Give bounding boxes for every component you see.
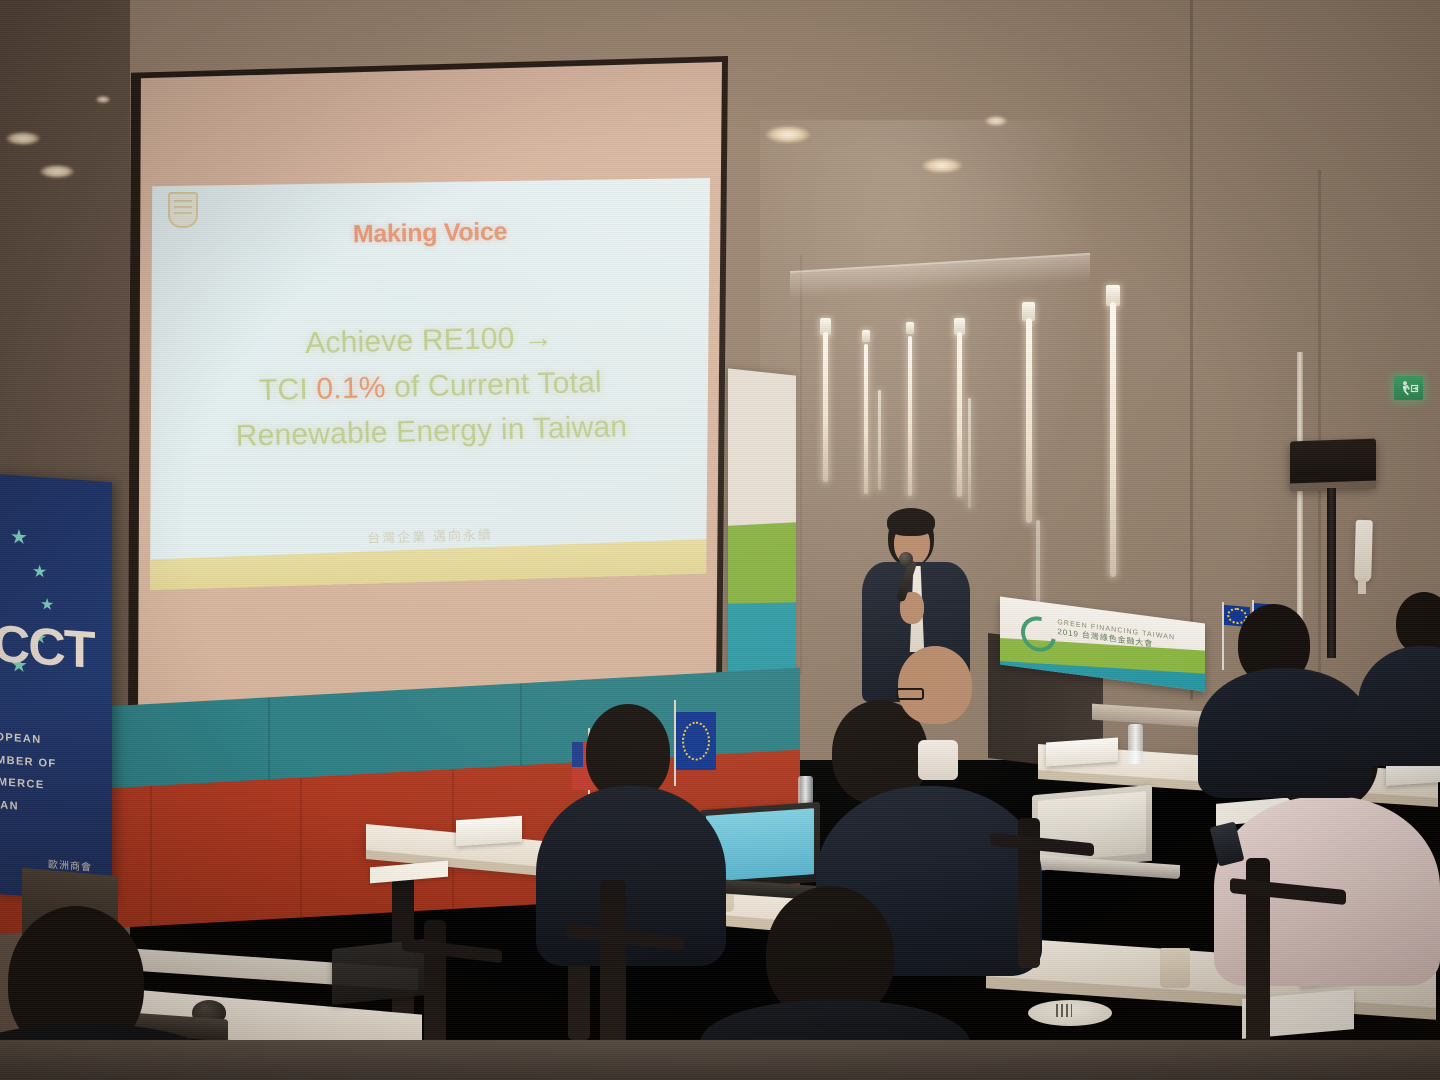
water-bottle	[1128, 724, 1143, 764]
floor	[0, 1040, 1440, 1080]
wall-band-seam	[150, 786, 152, 936]
ceiling-downlight	[96, 96, 110, 103]
pendant-light-tube	[1110, 302, 1116, 577]
eu-star-icon: ★	[32, 563, 47, 581]
ceiling-downlight	[922, 158, 962, 173]
exit-sign-icon	[1394, 376, 1423, 400]
ceiling-downlight	[6, 132, 40, 145]
ceiling-downlight	[985, 116, 1007, 126]
pendant-light-tube	[957, 332, 962, 497]
fork-icon	[1056, 1004, 1072, 1017]
pendant-light-tube	[878, 390, 881, 490]
wall-panel-seam	[800, 255, 802, 675]
speaker-stand-pole	[1327, 488, 1336, 658]
eu-star-icon: ★	[10, 527, 28, 548]
slide-heading: Making Voice	[150, 214, 710, 253]
audience-head-far-right	[1396, 592, 1440, 654]
ecct-logo: ECCT	[0, 611, 80, 679]
conference-room-photo: Making Voice Achieve RE100 → TCI 0.1% of…	[0, 0, 1440, 1080]
paper-cup	[1160, 948, 1190, 988]
eu-stars-ring	[682, 722, 710, 761]
pendant-light-tube	[823, 332, 828, 482]
event-backdrop-panel	[728, 368, 796, 705]
slide-body-text: Achieve RE100 → TCI 0.1% of Current Tota…	[182, 312, 678, 461]
wall-sconce	[1354, 520, 1373, 582]
audience-shoulders-right-back	[1198, 668, 1372, 798]
eu-star-icon: ★	[40, 597, 54, 614]
slide-highlight-value: 0.1%	[316, 371, 386, 406]
pendant-light-tube	[908, 336, 912, 496]
eu-flag	[676, 712, 716, 770]
pendant-light-tube	[864, 344, 868, 494]
slide-line2-suffix: of Current Total	[385, 365, 602, 403]
chair	[600, 880, 626, 1060]
pendant-light-cap	[906, 322, 914, 334]
pendant-light-cap	[862, 330, 870, 342]
wall-sconce-stem	[1358, 578, 1366, 594]
presentation-slide: Making Voice Achieve RE100 → TCI 0.1% of…	[150, 178, 710, 590]
slide-line2-prefix: TCI	[258, 372, 316, 406]
name-card	[456, 816, 522, 847]
ceiling-downlight	[766, 126, 810, 143]
light-mast	[1297, 352, 1303, 652]
audience-collar	[918, 740, 958, 780]
presenter-hair	[887, 508, 935, 536]
microphone-head	[899, 552, 913, 566]
backdrop-green-wave	[728, 522, 796, 611]
ecct-banner: ★ ★ ★ ★ ★ ★ ECCT EUROPEAN CHAMBER OF COM…	[0, 474, 112, 902]
pendant-light-tube	[1026, 318, 1032, 523]
ecct-banner-text: EUROPEAN CHAMBER OF COMMERCE TAIWAN	[0, 724, 98, 823]
audience-bald-head	[898, 646, 972, 724]
name-card	[1046, 737, 1118, 766]
ceiling-downlight	[40, 165, 74, 178]
glasses-icon	[896, 688, 924, 700]
wall-band-seam	[300, 777, 302, 927]
pendant-light-tube	[968, 398, 971, 508]
wall-panel-seam	[1190, 0, 1193, 700]
